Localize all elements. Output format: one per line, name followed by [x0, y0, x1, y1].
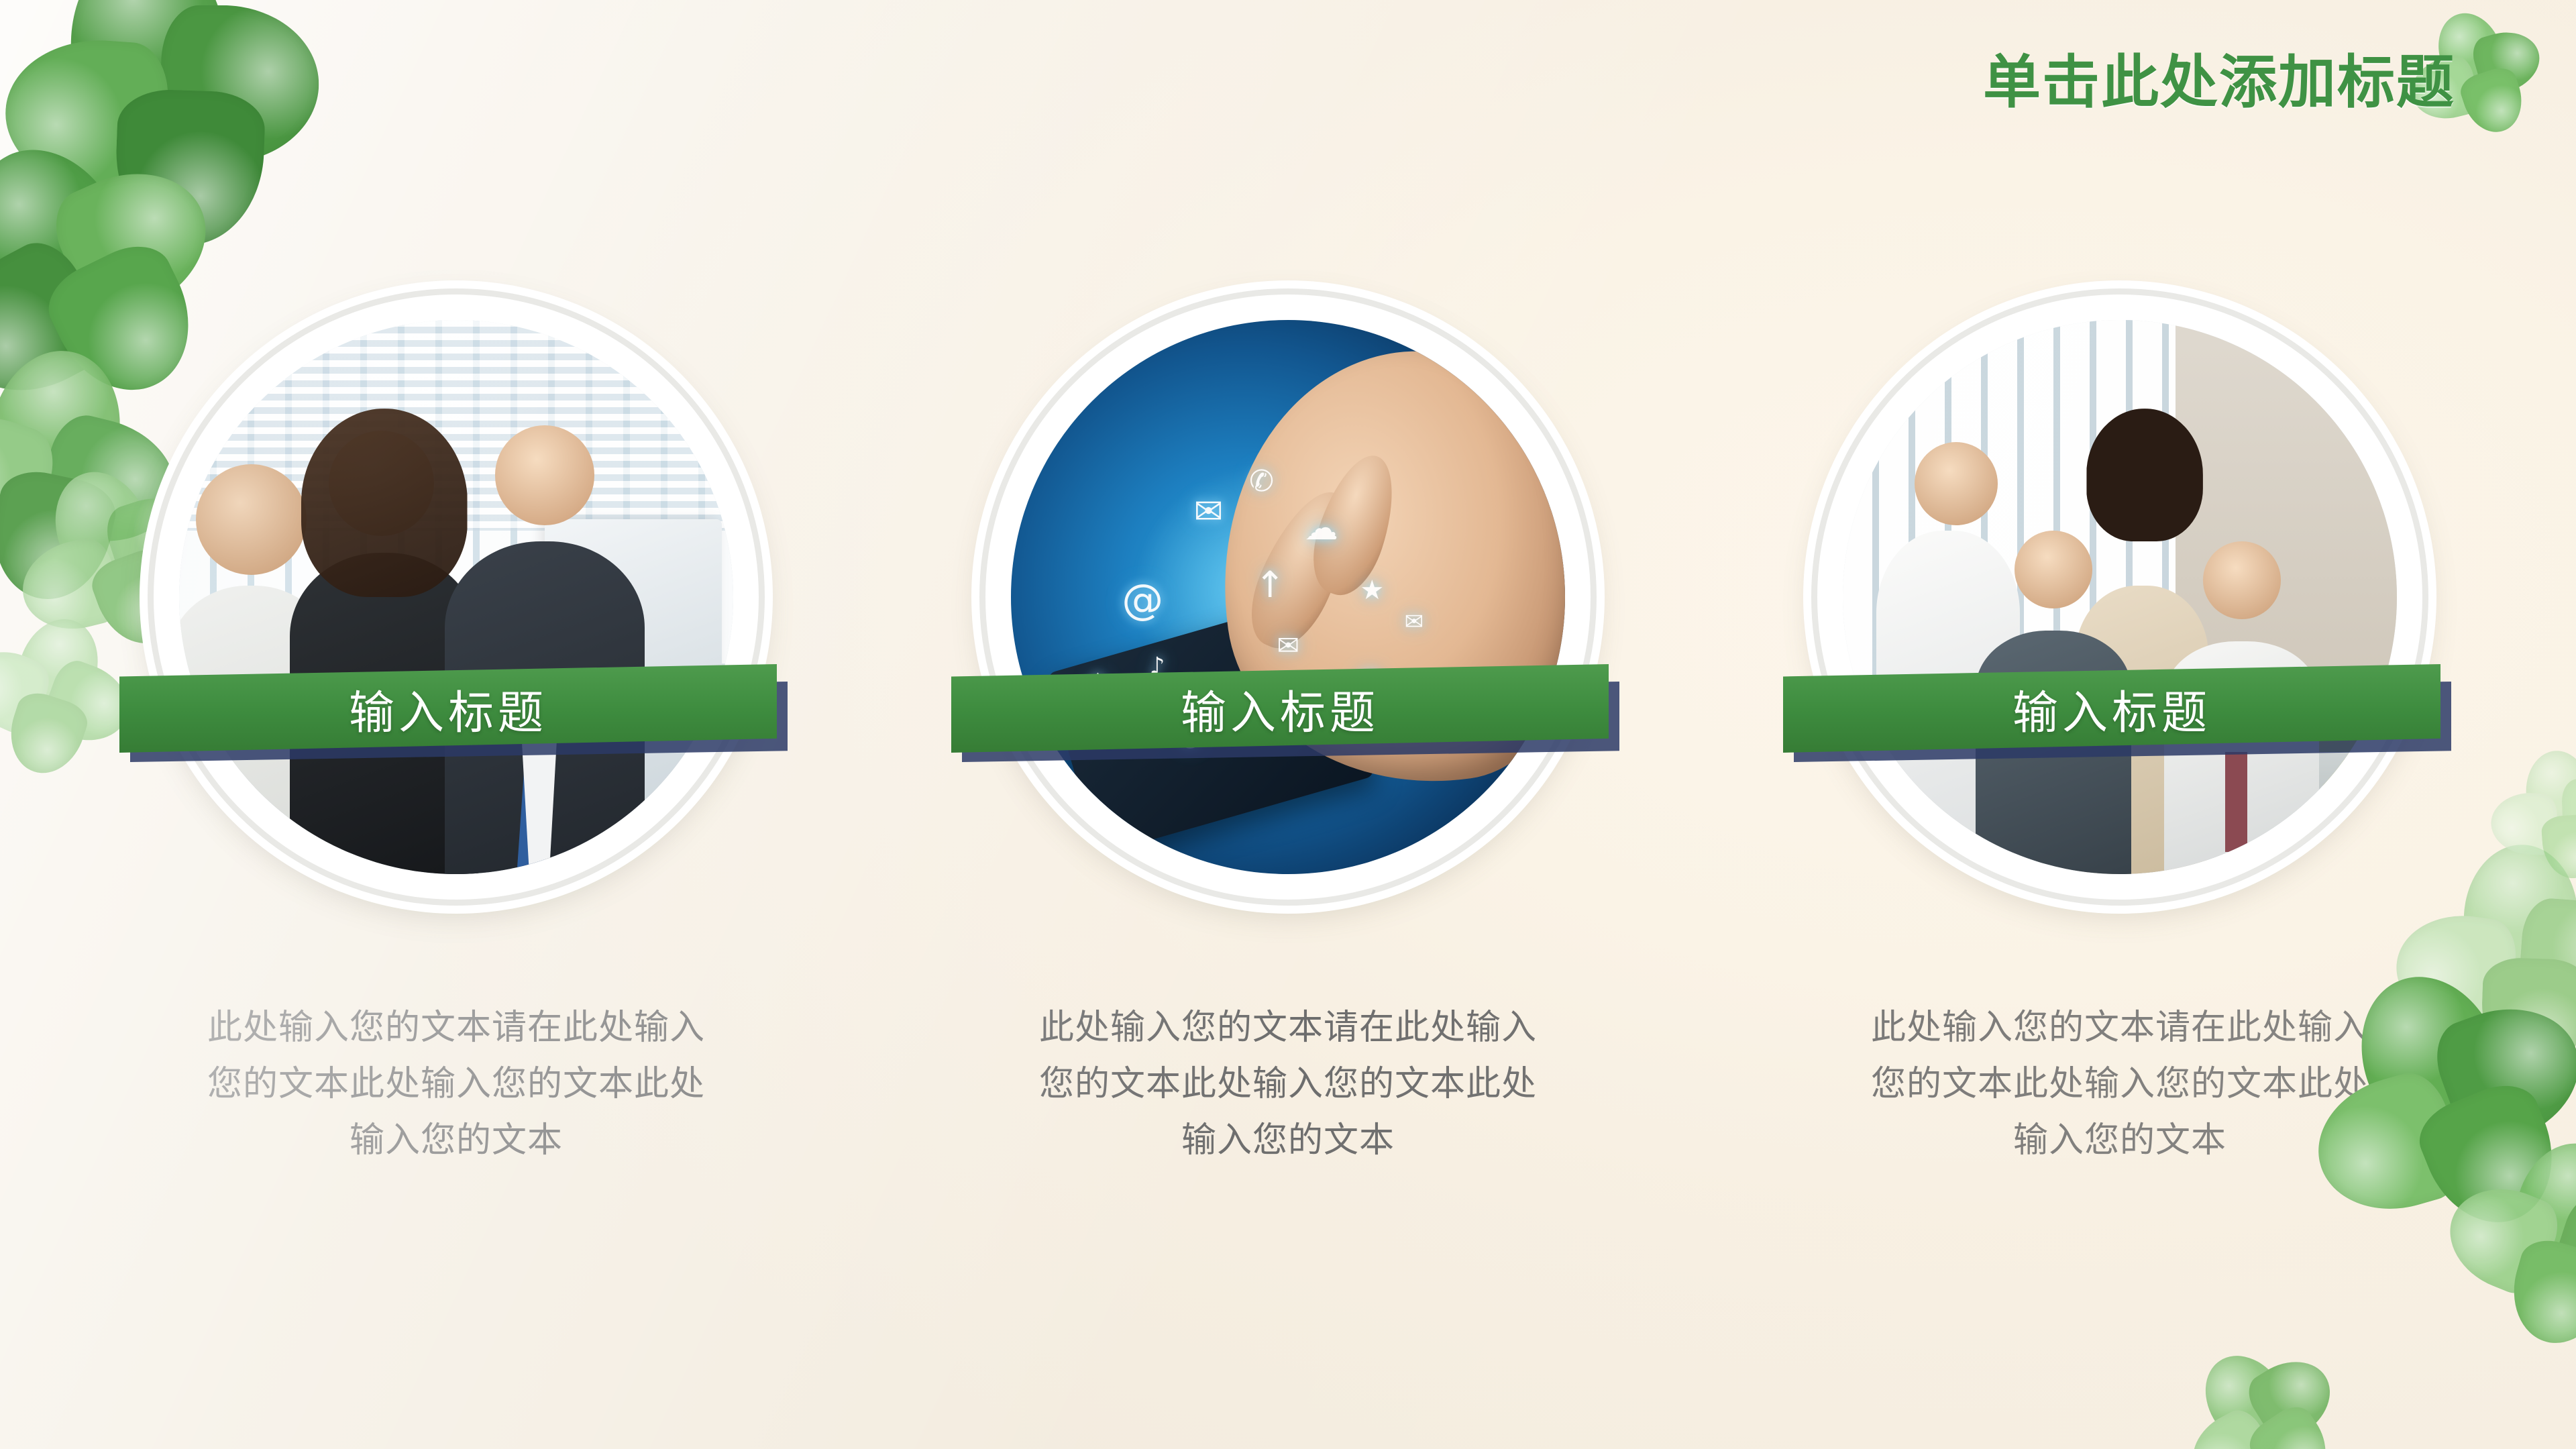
card-banner-1: 输入标题: [119, 664, 790, 763]
slide-canvas: 单击此处添加标题: [0, 0, 2576, 1449]
card-banner-label-2[interactable]: 输入标题: [951, 664, 1609, 753]
circle-photo-frame-1: [148, 288, 765, 906]
cards-container: 输入标题 @ ✉ ✆ ☁: [0, 0, 2576, 1449]
card-banner-label-3[interactable]: 输入标题: [1783, 664, 2440, 753]
content-card-2: @ ✉ ✆ ☁ ⌂ ★ ♪ @ ✉ ↑ ✆ @ ✉ ⚙: [959, 288, 1617, 906]
card-banner-3: 输入标题: [1783, 664, 2454, 763]
circle-photo-frame-2: @ ✉ ✆ ☁ ⌂ ★ ♪ @ ✉ ↑ ✆ @ ✉ ⚙: [979, 288, 1597, 906]
title-area: 单击此处添加标题: [1983, 35, 2455, 119]
card-banner-label-1[interactable]: 输入标题: [119, 664, 777, 753]
content-card-1: 输入标题: [127, 288, 785, 906]
page-title[interactable]: 单击此处添加标题: [1983, 35, 2455, 119]
content-card-3: 输入标题: [1791, 288, 2449, 906]
circle-photo-frame-3: [1811, 288, 2428, 906]
card-banner-2: 输入标题: [951, 664, 1622, 763]
